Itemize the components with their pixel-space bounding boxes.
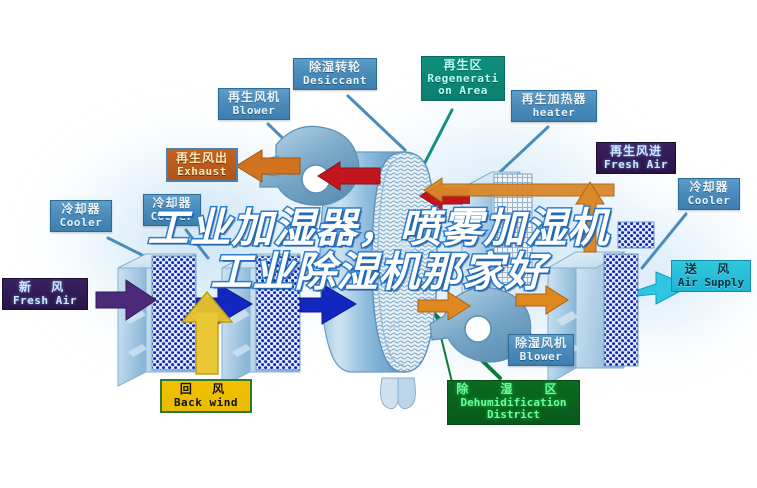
- watermark-text: xt: [388, 316, 403, 334]
- label-back-wind[interactable]: 回 风 Back wind: [160, 379, 252, 413]
- label-regeneration-area-cn: 再生区: [427, 59, 499, 72]
- label-back-wind-cn: 回 风: [167, 383, 245, 396]
- label-regeneration-fresh-air[interactable]: 再生风进 Fresh Air: [596, 142, 676, 174]
- label-air-supply-cn: 送 风: [677, 263, 745, 276]
- label-dehumidification-district-cn: 除 湿 区: [453, 383, 574, 396]
- label-exhaust[interactable]: 再生风出 Exhaust: [166, 148, 238, 182]
- label-dehumidification-blower[interactable]: 除湿风机 Blower: [508, 334, 574, 366]
- dehumidifier-schematic: xt: [0, 0, 757, 488]
- label-regeneration-area-en: Regenerati on Area: [427, 73, 499, 97]
- label-regeneration-heater-cn: 再生加热器: [517, 93, 591, 106]
- label-fresh-air[interactable]: 新 风 Fresh Air: [2, 278, 88, 310]
- label-exhaust-en: Exhaust: [173, 166, 231, 178]
- label-regeneration-heater-en: heater: [517, 107, 591, 119]
- label-cooler-left-en: Cooler: [56, 217, 106, 229]
- label-dehumidification-blower-en: Blower: [514, 351, 568, 363]
- label-exhaust-cn: 再生风出: [173, 152, 231, 165]
- label-regeneration-heater[interactable]: 再生加热器 heater: [511, 90, 597, 122]
- diagram-canvas: xt: [0, 0, 757, 488]
- label-cooler-right-cn: 冷却器: [684, 181, 734, 194]
- label-back-wind-en: Back wind: [167, 397, 245, 409]
- label-air-supply[interactable]: 送 风 Air Supply: [671, 260, 751, 292]
- label-cooler-right[interactable]: 冷却器 Cooler: [678, 178, 740, 210]
- label-dehumidification-blower-cn: 除湿风机: [514, 337, 568, 350]
- label-regeneration-blower-en: Blower: [224, 105, 284, 117]
- label-regeneration-area[interactable]: 再生区 Regenerati on Area: [421, 56, 505, 101]
- label-cooler-mid-cn: 冷却器: [149, 197, 195, 210]
- left-cooler-unit-2: [222, 254, 300, 386]
- label-desiccant-en: Desiccant: [299, 75, 371, 87]
- label-cooler-right-en: Cooler: [684, 195, 734, 207]
- label-fresh-air-en: Fresh Air: [8, 295, 82, 307]
- label-air-supply-en: Air Supply: [677, 277, 745, 289]
- label-dehumidification-district[interactable]: 除 湿 区 Dehumidification District: [447, 380, 580, 425]
- label-desiccant-cn: 除湿转轮: [299, 61, 371, 74]
- label-desiccant[interactable]: 除湿转轮 Desiccant: [293, 58, 377, 90]
- label-cooler-left-cn: 冷却器: [56, 203, 106, 216]
- label-regeneration-blower[interactable]: 再生风机 Blower: [218, 88, 290, 120]
- label-dehumidification-district-en: Dehumidification District: [453, 397, 574, 421]
- label-regeneration-fresh-air-en: Fresh Air: [602, 159, 670, 171]
- label-cooler-mid-en: Cooler: [149, 211, 195, 223]
- label-cooler-left[interactable]: 冷却器 Cooler: [50, 200, 112, 232]
- label-fresh-air-cn: 新 风: [8, 281, 82, 294]
- label-cooler-mid[interactable]: 冷却器 Cooler: [143, 194, 201, 226]
- right-cooler-coil: [618, 222, 654, 248]
- label-regeneration-fresh-air-cn: 再生风进: [602, 145, 670, 158]
- label-regeneration-blower-cn: 再生风机: [224, 91, 284, 104]
